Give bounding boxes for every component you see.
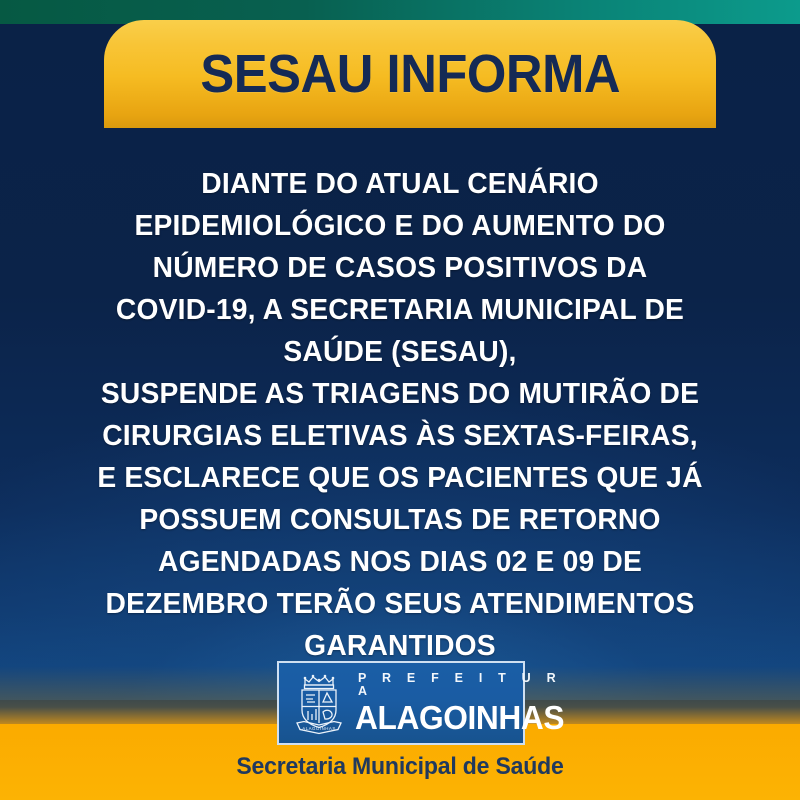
logo-wordmark: P R E F E I T U R A ALAGOINHAS <box>355 672 573 734</box>
crest-banner-label: ALAGOINHAS <box>302 726 336 731</box>
message-line: NÚMERO DE CASOS POSITIVOS DA <box>44 247 757 289</box>
message-line: E ESCLARECE QUE OS PACIENTES QUE JÁ <box>44 457 757 499</box>
department-label: Secretaria Municipal de Saúde <box>16 753 784 781</box>
message-line: EPIDEMIOLÓGICO E DO AUMENTO DO <box>44 205 757 247</box>
message-line: COVID-19, A SECRETARIA MUNICIPAL DE <box>44 289 757 331</box>
header-banner: SESAU INFORMA <box>104 20 716 128</box>
logo-city-name: ALAGOINHAS <box>355 701 564 734</box>
message-line: DEZEMBRO TERÃO SEUS ATENDIMENTOS <box>44 583 757 625</box>
logo-prefeitura-label: P R E F E I T U R A <box>358 672 573 697</box>
message-line: SAÚDE (SESAU), <box>44 331 757 373</box>
message-line: CIRURGIAS ELETIVAS ÀS SEXTAS-FEIRAS, <box>44 415 757 457</box>
message-line: SUSPENDE AS TRIAGENS DO MUTIRÃO DE <box>44 373 757 415</box>
message-line: AGENDADAS NOS DIAS 02 E 09 DE <box>44 541 757 583</box>
page-title: SESAU INFORMA <box>200 47 620 101</box>
message-line: DIANTE DO ATUAL CENÁRIO <box>44 163 757 205</box>
poster-canvas: SESAU INFORMA DIANTE DO ATUAL CENÁRIO EP… <box>0 0 800 800</box>
prefeitura-logo: ALAGOINHAS P R E F E I T U R A ALAGOINHA… <box>277 661 525 745</box>
message-line: POSSUEM CONSULTAS DE RETORNO <box>44 499 757 541</box>
announcement-text: DIANTE DO ATUAL CENÁRIO EPIDEMIOLÓGICO E… <box>40 163 760 667</box>
alagoinhas-coat-of-arms-icon: ALAGOINHAS <box>291 671 347 735</box>
